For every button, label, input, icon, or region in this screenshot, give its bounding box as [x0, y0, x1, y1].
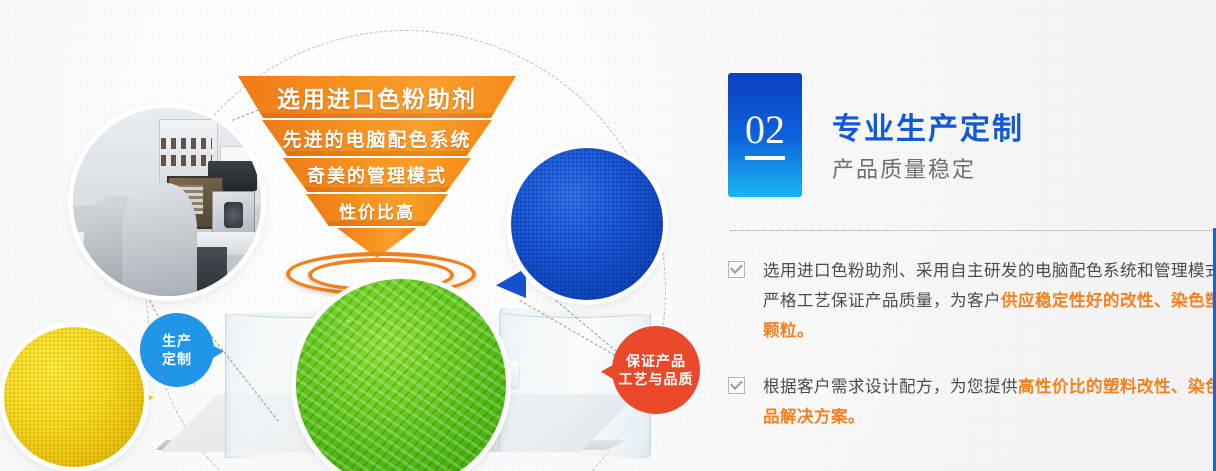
green-pellets-texture — [296, 279, 506, 471]
page-title: 专业生产定制 — [832, 104, 1024, 148]
highlighted-text: 颗粒。 — [763, 322, 814, 340]
list-item-line: 严格工艺保证产品质量，为客户供应稳定性好的改性、染色塑料 — [763, 286, 1216, 316]
plain-text: 严格工艺保证产品质量，为客户 — [763, 292, 1001, 310]
page-subtitle: 产品质量稳定 — [832, 152, 976, 184]
dotted-divider — [730, 230, 1216, 231]
bubble-orange-line-1: 保证产品 — [626, 352, 686, 370]
list-item: 根据客户需求设计配方，为您提供高性价比的塑料改性、染色产品解决方案。 — [728, 372, 1216, 432]
bubble-quality-assurance: 保证产品 工艺与品质 — [612, 326, 700, 414]
list-item: 选用进口色粉助剂、采用自主研发的电脑配色系统和管理模式，严格工艺保证产品质量，为… — [728, 256, 1216, 346]
plain-text: 根据客户需求设计配方，为您提供 — [763, 378, 1018, 396]
list-item-line: 颗粒。 — [763, 316, 1216, 346]
glass-handle-right — [510, 361, 519, 387]
page-root: 选用进口色粉助剂 先进的电脑配色系统 奇美的管理模式 性价比高 生产 定制 保证… — [0, 0, 1216, 471]
funnel-layer-1: 选用进口色粉助剂 — [238, 76, 516, 118]
highlighted-text: 供应稳定性好的改性、染色塑料 — [1001, 292, 1216, 310]
bubble-orange-line-2: 工艺与品质 — [619, 370, 694, 388]
funnel-layer-3: 奇美的管理模式 — [283, 158, 471, 192]
section-number-badge: 02 — [728, 73, 802, 197]
yellow-pigment-powder-photo — [4, 327, 144, 467]
funnel-diagram: 选用进口色粉助剂 先进的电脑配色系统 奇美的管理模式 性价比高 — [0, 0, 700, 300]
right-content-panel: 02 专业生产定制 产品质量稳定 选用进口色粉助剂、采用自主研发的电脑配色系统和… — [700, 0, 1216, 471]
highlighted-text: 高性价比的塑料改性、染色产 — [1018, 378, 1216, 396]
bullet-list: 选用进口色粉助剂、采用自主研发的电脑配色系统和管理模式，严格工艺保证产品质量，为… — [728, 256, 1216, 458]
yellow-powder-texture — [4, 327, 144, 467]
bubble-production-customization: 生产 定制 — [140, 313, 214, 387]
bubble-blue-line-1: 生产 — [162, 332, 192, 350]
checkmark-icon — [728, 377, 745, 394]
plain-text: 选用进口色粉助剂、采用自主研发的电脑配色系统和管理模式， — [763, 262, 1216, 280]
list-item-line: 品解决方案。 — [763, 402, 1216, 432]
list-item-line: 选用进口色粉助剂、采用自主研发的电脑配色系统和管理模式， — [763, 256, 1216, 286]
list-item-line: 根据客户需求设计配方，为您提供高性价比的塑料改性、染色产 — [763, 372, 1216, 402]
list-item-text: 根据客户需求设计配方，为您提供高性价比的塑料改性、染色产品解决方案。 — [763, 372, 1216, 432]
highlighted-text: 品解决方案。 — [763, 408, 865, 426]
green-plastic-pellets-photo — [296, 279, 506, 471]
funnel-layer-2: 先进的电脑配色系统 — [262, 120, 492, 156]
checkmark-icon — [728, 261, 745, 278]
bubble-blue-line-2: 定制 — [162, 350, 192, 368]
list-item-text: 选用进口色粉助剂、采用自主研发的电脑配色系统和管理模式，严格工艺保证产品质量，为… — [763, 256, 1216, 346]
funnel-layer-4: 性价比高 — [306, 194, 448, 226]
left-illustration-panel: 选用进口色粉助剂 先进的电脑配色系统 奇美的管理模式 性价比高 生产 定制 保证… — [0, 0, 700, 471]
section-number: 02 — [745, 110, 785, 160]
